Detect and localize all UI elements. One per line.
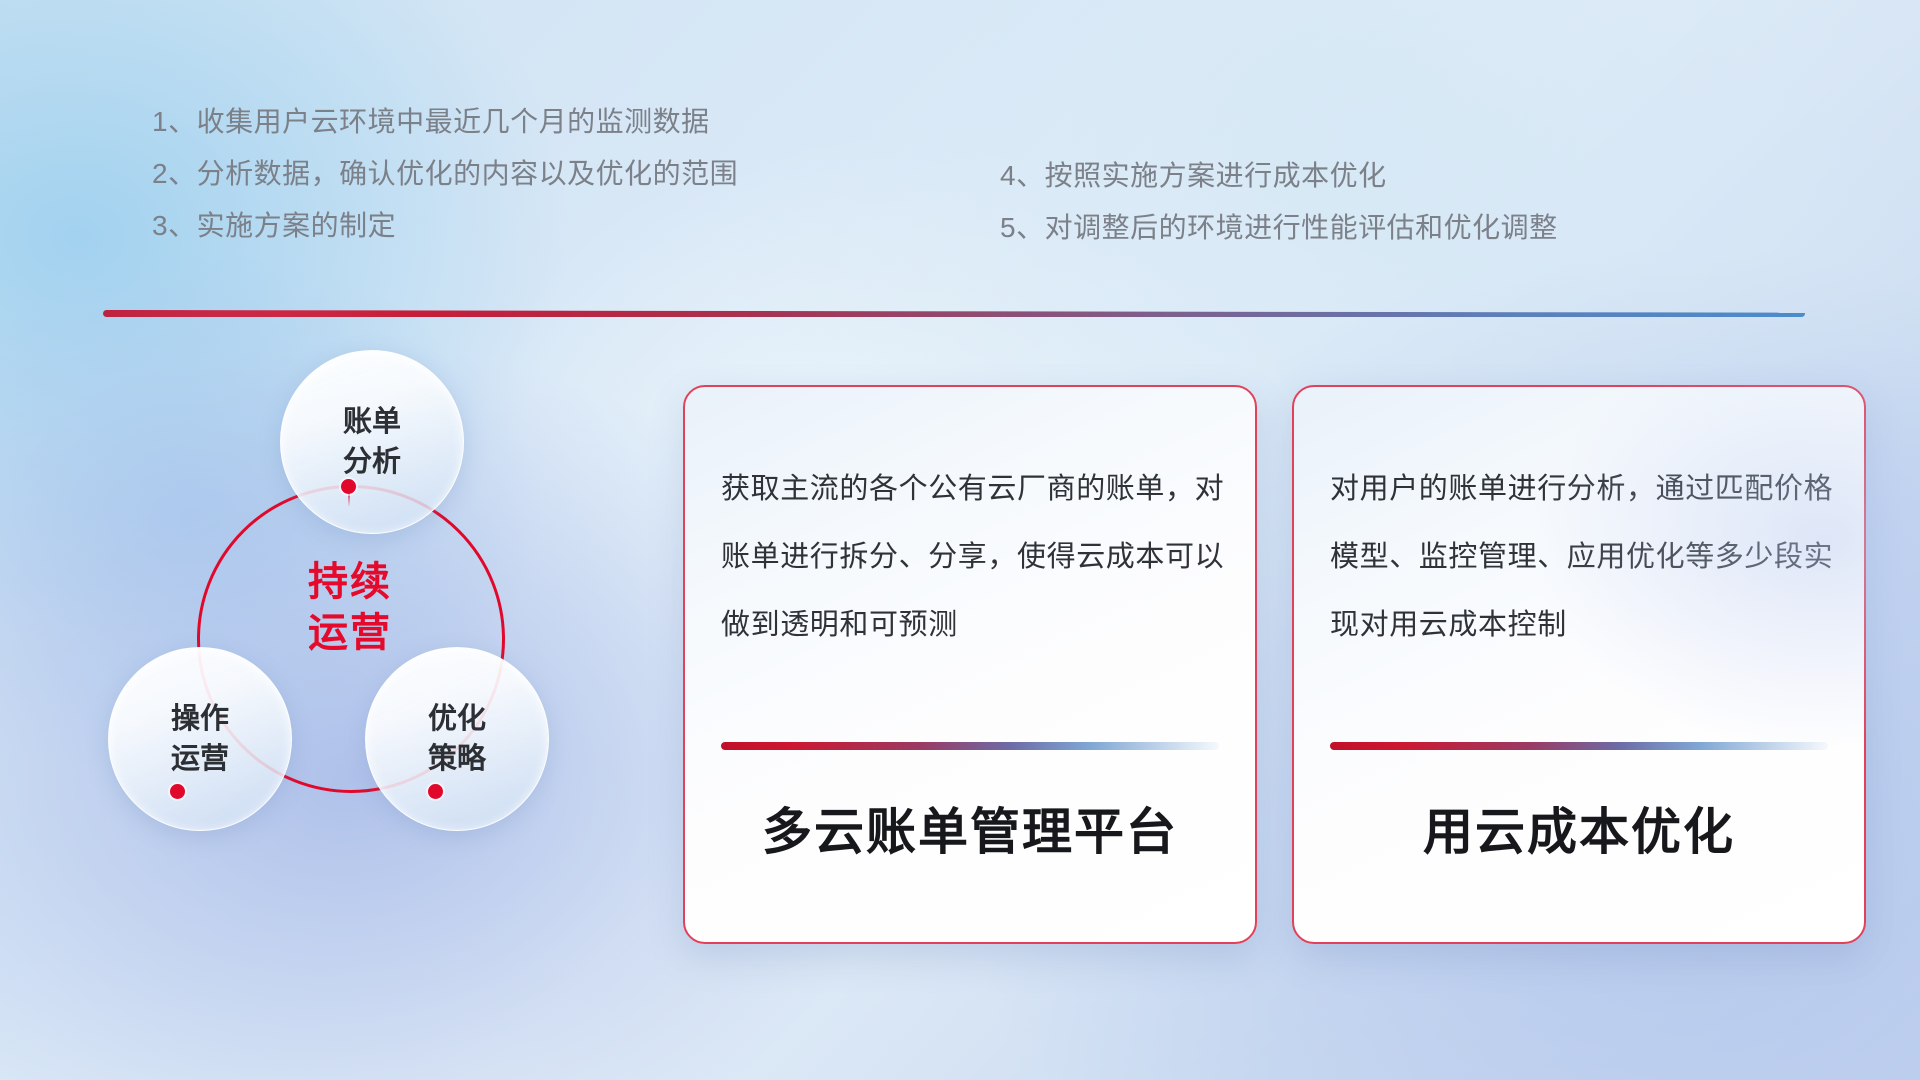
card-2-title: 用云成本优化 bbox=[1294, 792, 1864, 864]
center-label-line-1: 持续 bbox=[250, 557, 450, 608]
card-1-body: 获取主流的各个公有云厂商的账单，对账单进行拆分、分享，使得云成本可以做到透明和可… bbox=[721, 455, 1225, 659]
venn-bubble-optimization-strategy-label: 优化 策略 bbox=[428, 699, 486, 779]
venn-bubble-operations-label: 操作 运营 bbox=[171, 699, 229, 779]
steps-list-right: 4、按照实施方案进行成本优化 5、对调整后的环境进行性能评估和优化调整 bbox=[1000, 150, 1558, 254]
label-line-1: 账单 bbox=[343, 406, 401, 438]
card-1-title: 多云账单管理平台 bbox=[685, 792, 1255, 864]
slide-canvas: 1、收集用户云环境中最近几个月的监测数据 2、分析数据，确认优化的内容以及优化的… bbox=[0, 0, 1920, 1080]
venn-center-label: 持续 运营 bbox=[250, 557, 450, 659]
node-dot-right-icon bbox=[428, 784, 443, 799]
section-divider bbox=[103, 310, 1805, 317]
node-dot-left-icon bbox=[170, 784, 185, 799]
steps-list-left: 1、收集用户云环境中最近几个月的监测数据 2、分析数据，确认优化的内容以及优化的… bbox=[152, 96, 738, 252]
card-1-rule bbox=[721, 742, 1219, 750]
venn-diagram: 账单 分析 操作 运营 优化 策略 持续 运营 bbox=[95, 345, 615, 925]
venn-bubble-bill-analysis[interactable]: 账单 分析 bbox=[280, 350, 464, 534]
venn-bubble-optimization-strategy[interactable]: 优化 策略 bbox=[365, 647, 549, 831]
card-cloud-cost-optimization[interactable]: 对用户的账单进行分析，通过匹配价格模型、监控管理、应用优化等多少段实现对用云成本… bbox=[1292, 385, 1866, 944]
center-label-line-2: 运营 bbox=[250, 608, 450, 659]
label-line-2: 运营 bbox=[171, 743, 229, 775]
card-2-rule bbox=[1330, 742, 1828, 750]
step-item-2: 2、分析数据，确认优化的内容以及优化的范围 bbox=[152, 148, 738, 200]
label-line-1: 操作 bbox=[171, 703, 229, 735]
step-item-5: 5、对调整后的环境进行性能评估和优化调整 bbox=[1000, 202, 1558, 254]
venn-bubble-bill-analysis-label: 账单 分析 bbox=[343, 402, 401, 482]
label-line-2: 分析 bbox=[343, 446, 401, 478]
card-2-body: 对用户的账单进行分析，通过匹配价格模型、监控管理、应用优化等多少段实现对用云成本… bbox=[1330, 455, 1834, 659]
step-item-4: 4、按照实施方案进行成本优化 bbox=[1000, 150, 1558, 202]
label-line-1: 优化 bbox=[428, 703, 486, 735]
venn-bubble-operations[interactable]: 操作 运营 bbox=[108, 647, 292, 831]
label-line-2: 策略 bbox=[428, 743, 486, 775]
node-dot-top-icon bbox=[341, 479, 356, 494]
step-item-3: 3、实施方案的制定 bbox=[152, 200, 738, 252]
card-multi-cloud-billing[interactable]: 获取主流的各个公有云厂商的账单，对账单进行拆分、分享，使得云成本可以做到透明和可… bbox=[683, 385, 1257, 944]
step-item-1: 1、收集用户云环境中最近几个月的监测数据 bbox=[152, 96, 738, 148]
